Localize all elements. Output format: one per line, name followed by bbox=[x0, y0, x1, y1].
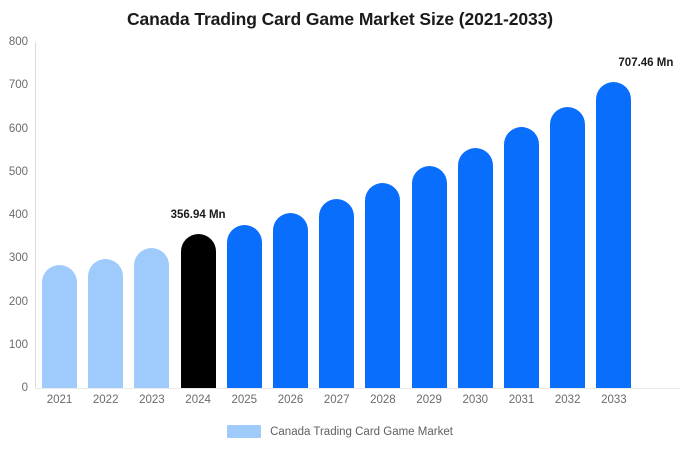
y-axis-tick: 500 bbox=[9, 166, 28, 178]
bar-item[interactable]: 2030 bbox=[458, 42, 493, 388]
x-axis-tick: 2025 bbox=[232, 394, 258, 406]
bar-item[interactable]: 707.46 Mn2033 bbox=[596, 42, 631, 388]
y-axis-tick: 400 bbox=[9, 209, 28, 221]
x-axis-tick: 2028 bbox=[370, 394, 396, 406]
bar[interactable] bbox=[88, 259, 123, 388]
y-axis-tick: 100 bbox=[9, 339, 28, 351]
legend-label: Canada Trading Card Game Market bbox=[270, 426, 453, 438]
x-axis-tick: 2026 bbox=[278, 394, 304, 406]
bar-item[interactable]: 2031 bbox=[504, 42, 539, 388]
bar[interactable] bbox=[273, 213, 308, 388]
bar-item[interactable]: 2027 bbox=[319, 42, 354, 388]
x-axis-tick: 2032 bbox=[555, 394, 581, 406]
bar[interactable] bbox=[319, 199, 354, 388]
chart-legend: Canada Trading Card Game Market bbox=[0, 425, 680, 438]
bar-item[interactable]: 2028 bbox=[365, 42, 400, 388]
bar-group: 202120222023356.94 Mn2024202520262027202… bbox=[35, 42, 680, 388]
bar[interactable] bbox=[181, 234, 216, 388]
bar-item[interactable]: 2021 bbox=[42, 42, 77, 388]
x-axis-tick: 2022 bbox=[93, 394, 119, 406]
bar-item[interactable]: 356.94 Mn2024 bbox=[181, 42, 216, 388]
y-axis-tick: 200 bbox=[9, 296, 28, 308]
chart-title: Canada Trading Card Game Market Size (20… bbox=[0, 9, 680, 30]
y-axis-tick: 600 bbox=[9, 123, 28, 135]
bar-item[interactable]: 2023 bbox=[134, 42, 169, 388]
bar-item[interactable]: 2032 bbox=[550, 42, 585, 388]
bar[interactable] bbox=[458, 148, 493, 388]
bar[interactable] bbox=[504, 127, 539, 388]
bar[interactable] bbox=[365, 183, 400, 388]
x-axis-line bbox=[35, 388, 680, 389]
x-axis-tick: 2031 bbox=[509, 394, 535, 406]
legend-swatch bbox=[227, 425, 261, 438]
x-axis-tick: 2033 bbox=[601, 394, 627, 406]
bar[interactable] bbox=[412, 166, 447, 388]
bar[interactable] bbox=[550, 107, 585, 388]
plot-area: 8007006005004003002001000 20212022202335… bbox=[35, 42, 680, 388]
bar[interactable] bbox=[596, 82, 631, 388]
x-axis-tick: 2023 bbox=[139, 394, 165, 406]
bar-item[interactable]: 2026 bbox=[273, 42, 308, 388]
bar-item[interactable]: 2022 bbox=[88, 42, 123, 388]
bar-item[interactable]: 2029 bbox=[412, 42, 447, 388]
y-axis-tick: 0 bbox=[22, 382, 28, 394]
x-axis-tick: 2024 bbox=[185, 394, 211, 406]
bar[interactable] bbox=[42, 265, 77, 388]
bar-value-label: 356.94 Mn bbox=[171, 209, 226, 221]
bar-item[interactable]: 2025 bbox=[227, 42, 262, 388]
bar[interactable] bbox=[134, 248, 169, 388]
y-axis-tick: 700 bbox=[9, 79, 28, 91]
x-axis-tick: 2029 bbox=[416, 394, 442, 406]
bar-value-label: 707.46 Mn bbox=[618, 57, 673, 69]
x-axis-tick: 2021 bbox=[47, 394, 73, 406]
bar[interactable] bbox=[227, 225, 262, 388]
x-axis-tick: 2027 bbox=[324, 394, 350, 406]
y-axis-tick: 300 bbox=[9, 252, 28, 264]
y-axis-tick: 800 bbox=[9, 36, 28, 48]
chart-container: Canada Trading Card Game Market Size (20… bbox=[0, 0, 680, 450]
x-axis-tick: 2030 bbox=[463, 394, 489, 406]
